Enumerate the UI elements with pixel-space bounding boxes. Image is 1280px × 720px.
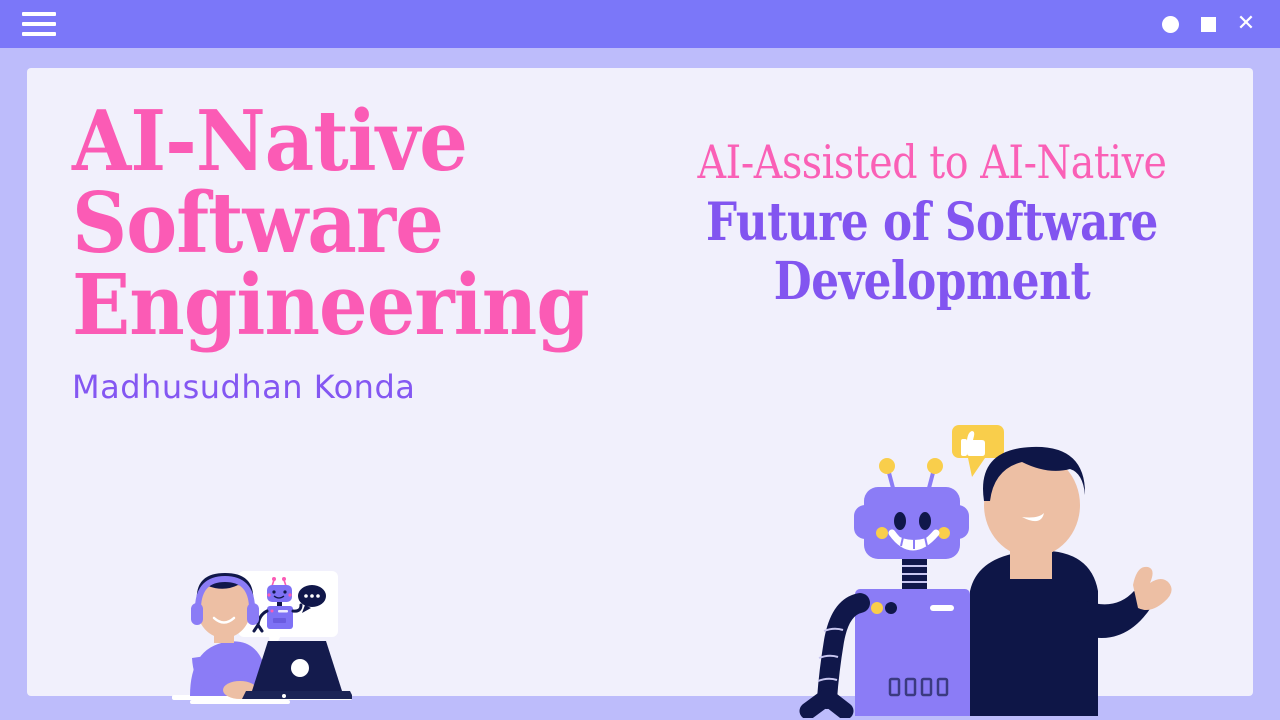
circle-icon [1162, 16, 1179, 33]
slide-right-column: AI-Assisted to AI-Native Future of Softw… [627, 138, 1237, 311]
square-icon [1201, 17, 1216, 32]
subtitle-secondary: Future of Software Development [676, 194, 1188, 310]
subtitle-primary: AI-Assisted to AI-Native [670, 138, 1195, 186]
author-name: Madhusudhan Konda [72, 368, 632, 406]
window-controls: ✕ [1158, 12, 1264, 36]
slide-card: AI-Native Software Engineering Madhusudh… [27, 68, 1253, 696]
hamburger-bar-2 [22, 22, 56, 26]
window-titlebar: ✕ [0, 0, 1280, 48]
page-title: AI-Native Software Engineering [72, 100, 587, 346]
slide-left-column: AI-Native Software Engineering Madhusudh… [72, 100, 632, 406]
minimize-button[interactable] [1158, 12, 1182, 36]
close-icon: ✕ [1237, 13, 1255, 35]
person-with-laptop-and-chatbot-illustration [172, 563, 352, 718]
hamburger-bar-1 [22, 12, 56, 16]
hamburger-menu-icon[interactable] [22, 12, 56, 36]
close-button[interactable]: ✕ [1234, 12, 1258, 36]
hamburger-bar-3 [22, 32, 56, 36]
robot-and-person-thumbs-up-illustration [792, 413, 1197, 718]
maximize-button[interactable] [1196, 12, 1220, 36]
